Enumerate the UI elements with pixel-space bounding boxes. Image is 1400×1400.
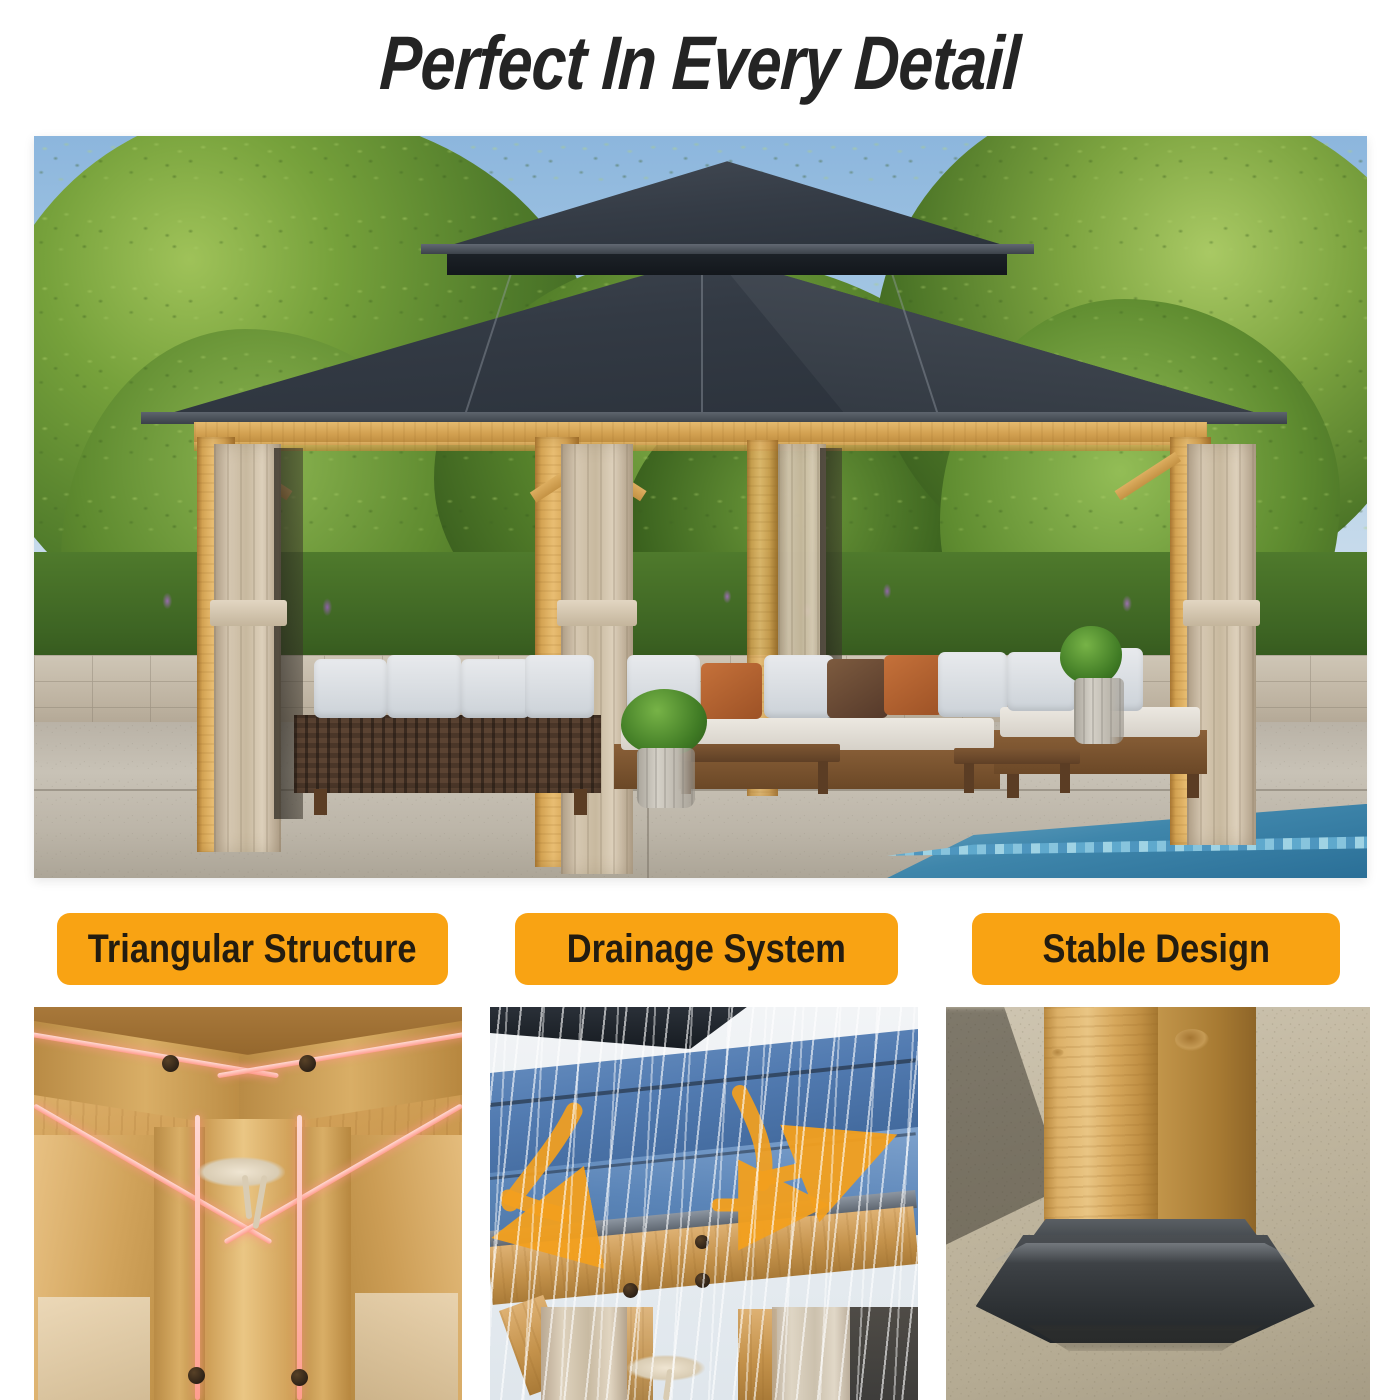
sofa-leg — [574, 789, 587, 815]
feature-image-stable-design — [946, 1007, 1370, 1400]
sofa-leg — [314, 789, 327, 815]
highlight-line-vertical-right — [297, 1115, 302, 1400]
sofa-leg — [1007, 774, 1019, 798]
wood-knot — [1052, 1049, 1064, 1057]
accent-pillow-rust — [701, 663, 762, 719]
table-leg — [818, 761, 829, 794]
cushion — [314, 659, 387, 718]
roof-upper-edge — [421, 244, 1034, 254]
sofa-leg — [1187, 774, 1199, 798]
feature-badge-triangular-structure[interactable]: Triangular Structure — [57, 913, 448, 985]
curtain-left — [214, 444, 281, 852]
roof-vent-gap — [447, 252, 1007, 276]
rattan-sofa-left — [294, 715, 601, 793]
cushion — [764, 655, 833, 718]
curtain-tieback-right — [1183, 600, 1260, 626]
curtain-tieback-center — [557, 600, 637, 626]
hero-scene — [34, 136, 1367, 878]
bolt-head — [291, 1369, 308, 1386]
center-post-shadow-right — [295, 1127, 351, 1400]
wood-knot — [1175, 1029, 1209, 1051]
cushion — [938, 652, 1007, 717]
curtain-glimpse-left — [38, 1297, 149, 1400]
table-leg — [964, 763, 973, 793]
table-leg — [1060, 763, 1069, 793]
lavender-plant-foliage — [1060, 626, 1121, 685]
product-infographic: Perfect In Every Detail — [0, 0, 1400, 1400]
accent-pillow-rust — [884, 655, 943, 714]
header-beam-shadow — [194, 442, 1207, 451]
cushion — [525, 655, 594, 718]
accent-pillow-brown — [827, 659, 888, 718]
page-title-bar: Perfect In Every Detail — [0, 0, 1400, 128]
hero-image — [34, 136, 1367, 878]
roof-upper-tier — [434, 161, 1021, 250]
curtain-tieback-left — [210, 600, 287, 626]
page-title: Perfect In Every Detail — [378, 26, 1022, 102]
feature-badge-label: Stable Design — [1042, 929, 1269, 969]
curtain-tie-bow — [197, 1157, 285, 1187]
cushion — [461, 659, 530, 718]
cushion — [387, 655, 460, 718]
feature-badge-drainage-system[interactable]: Drainage System — [515, 913, 898, 985]
feature-badge-label: Drainage System — [567, 929, 846, 969]
feature-badge-stable-design[interactable]: Stable Design — [972, 913, 1340, 985]
feature-image-triangular-structure — [34, 1007, 462, 1400]
feature-image-drainage-system — [490, 1007, 918, 1400]
feature-badge-label: Triangular Structure — [88, 929, 417, 969]
roof-seam — [701, 262, 703, 418]
planter-pot-right — [1074, 678, 1125, 745]
base-plate-highlight — [988, 1243, 1302, 1263]
rain-overlay-secondary — [490, 1007, 918, 1400]
feature-badge-row: Triangular Structure Drainage System Sta… — [0, 913, 1400, 985]
potted-plant-foliage — [621, 689, 708, 756]
bolt-head — [188, 1367, 205, 1384]
curtain-glimpse-right — [355, 1293, 458, 1400]
planter-pot — [637, 748, 696, 807]
